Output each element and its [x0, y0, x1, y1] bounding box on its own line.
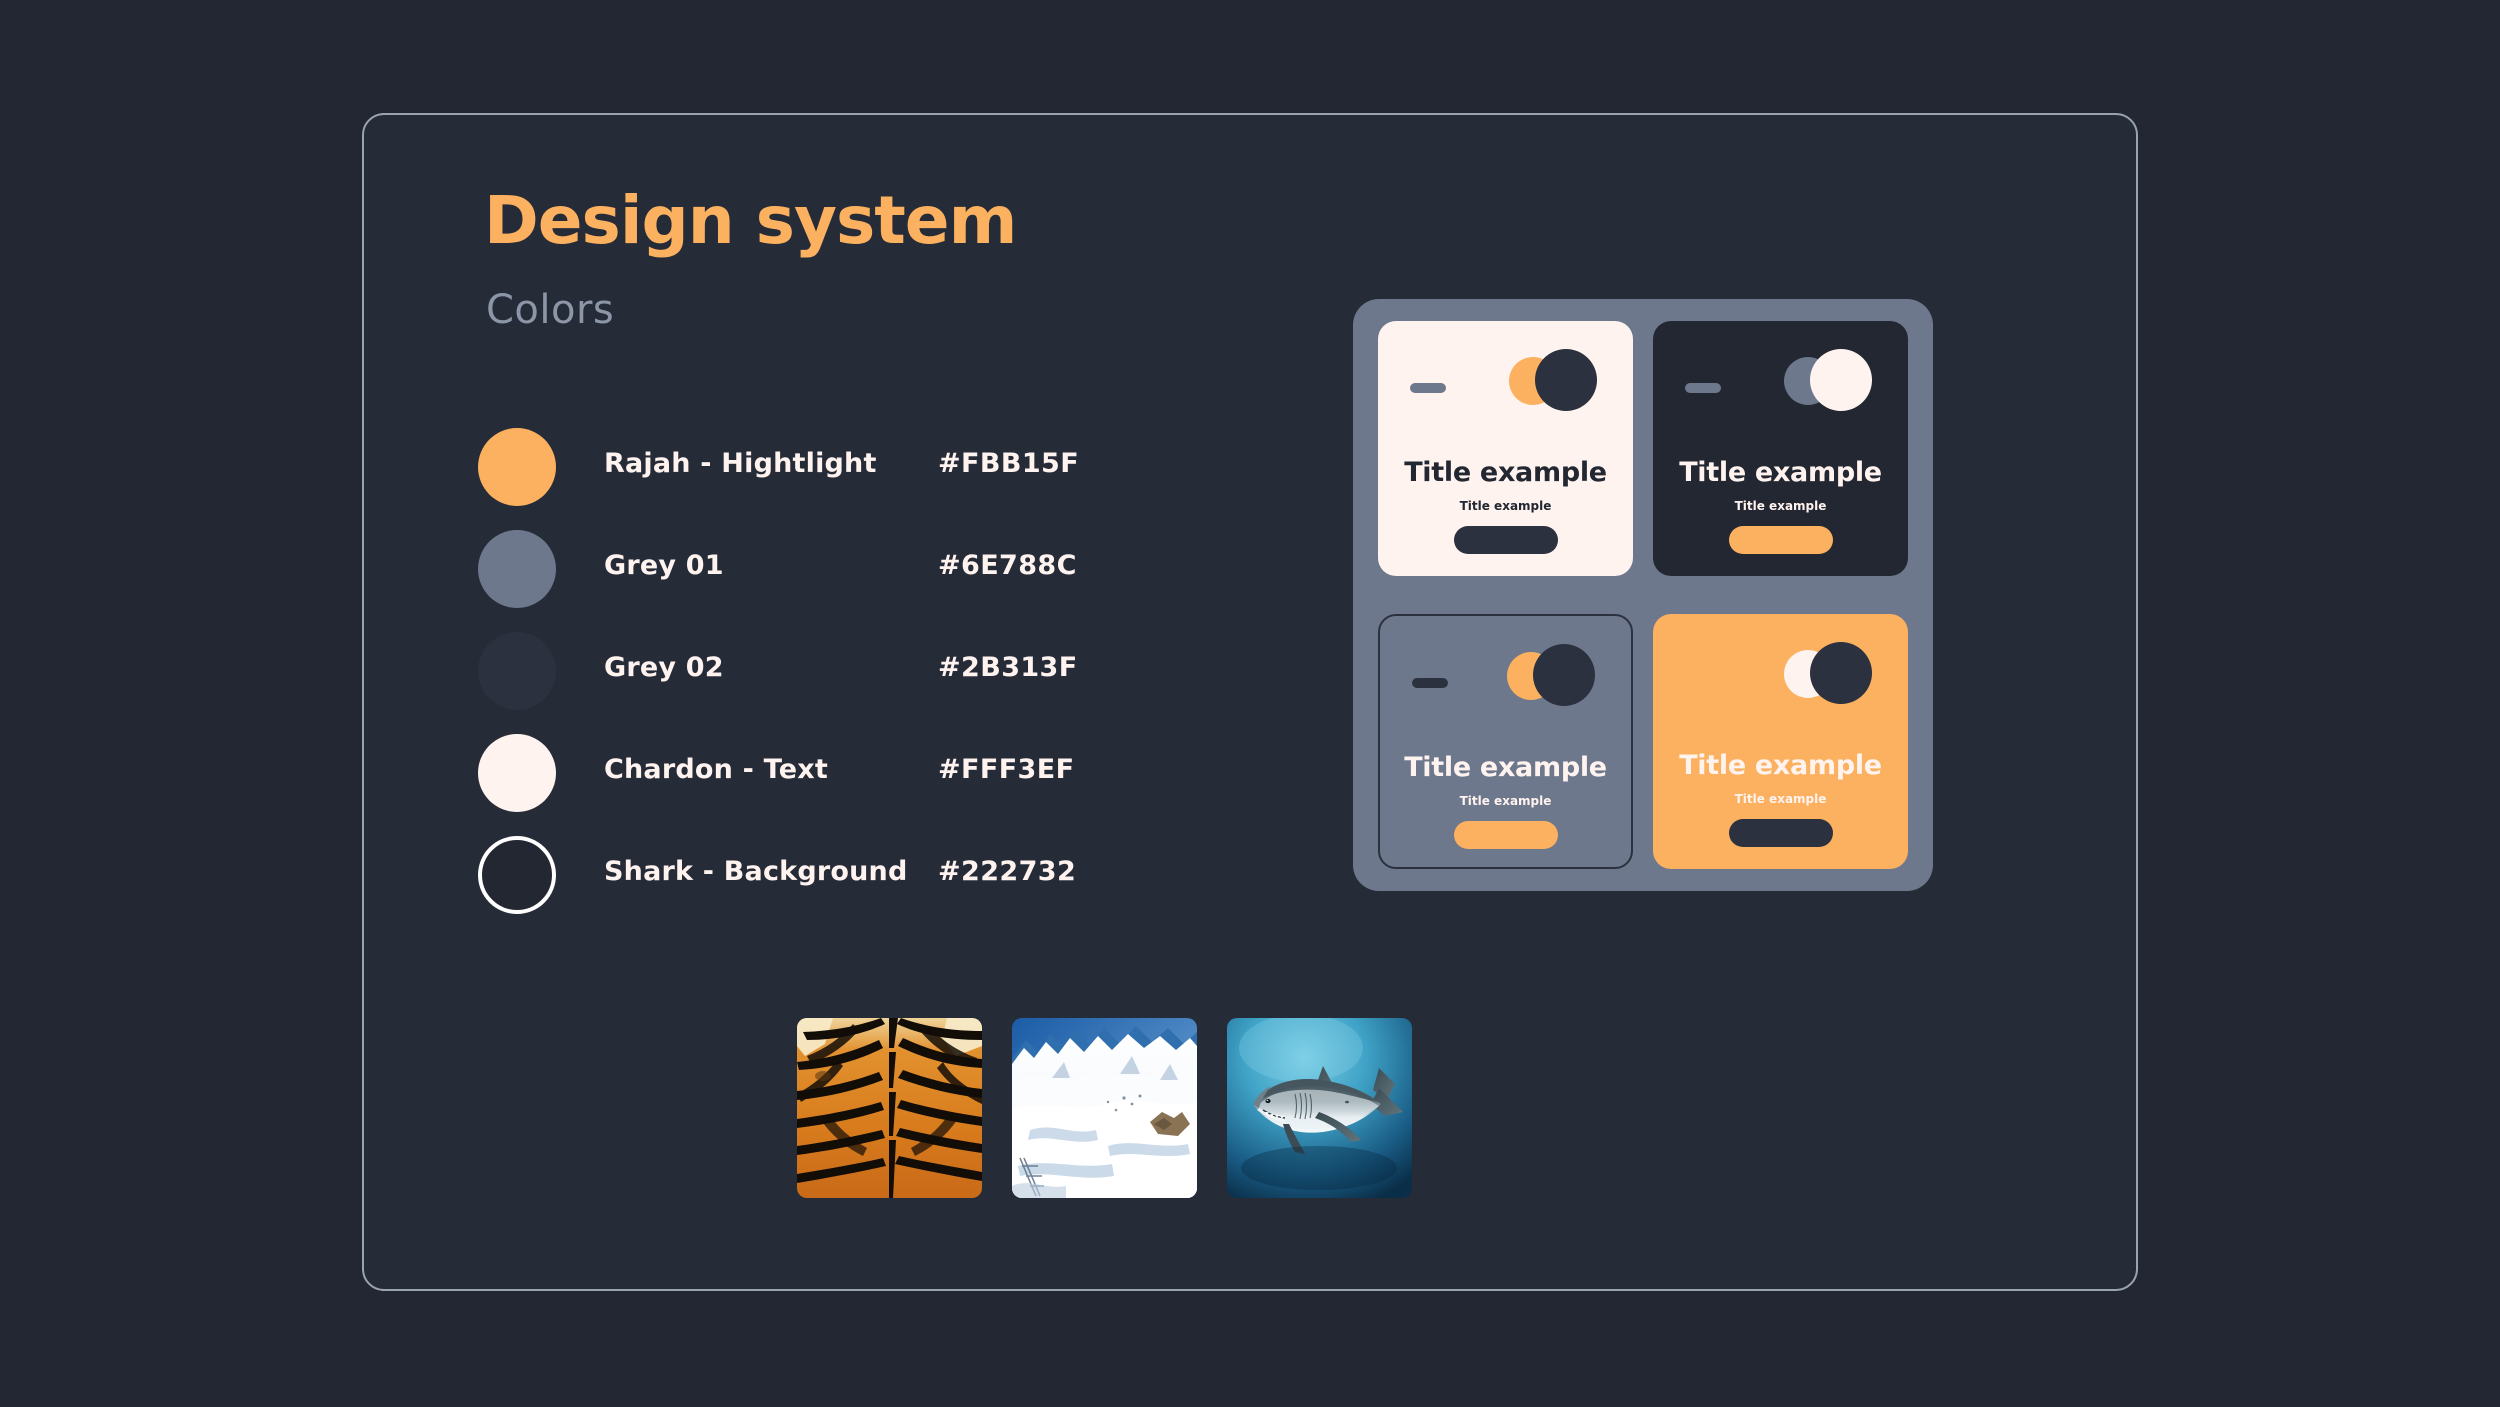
minus-dash-icon: [1410, 383, 1446, 393]
color-token-row: Grey 02#2B313F: [478, 624, 1198, 726]
color-token-row: Grey 01#6E788C: [478, 522, 1198, 624]
decorative-circle-front: [1810, 642, 1872, 704]
minus-dash-icon: [1412, 678, 1448, 688]
card-examples-panel: Title exampleTitle exampleTitle exampleT…: [1353, 299, 1933, 891]
snow-mountain-illustration: [1012, 1018, 1197, 1198]
card-action-button[interactable]: [1729, 819, 1833, 847]
decorative-circle-front: [1810, 349, 1872, 411]
page-subtitle: Colors: [486, 287, 614, 333]
card-title: Title example: [1653, 750, 1908, 781]
color-swatch[interactable]: [478, 632, 556, 710]
tiger-fur-illustration: [797, 1018, 982, 1198]
tiger-fur-thumbnail[interactable]: [797, 1018, 982, 1198]
color-swatch[interactable]: [478, 428, 556, 506]
minus-dash-icon: [1685, 383, 1721, 393]
card-title: Title example: [1653, 457, 1908, 488]
color-token-name: Grey 01: [604, 550, 724, 581]
color-swatch[interactable]: [478, 734, 556, 812]
card-subtitle: Title example: [1378, 499, 1633, 513]
color-token-name: Rajah - Hightlight: [604, 448, 877, 479]
color-token-row: Chardon - Text#FFF3EF: [478, 726, 1198, 828]
shark-thumbnail[interactable]: [1227, 1018, 1412, 1198]
color-token-row: Shark - Background#222732: [478, 828, 1198, 930]
page-title: Design system: [484, 182, 1016, 259]
decorative-circle-front: [1533, 644, 1595, 706]
color-swatch[interactable]: [478, 836, 556, 914]
color-token-hex: #FBB15F: [938, 448, 1079, 479]
card-action-button[interactable]: [1454, 821, 1558, 849]
color-token-name: Shark - Background: [604, 856, 908, 887]
color-swatch[interactable]: [478, 530, 556, 608]
example-card-grey-outline[interactable]: Title exampleTitle example: [1378, 614, 1633, 869]
color-token-hex: #222732: [938, 856, 1076, 887]
card-subtitle: Title example: [1653, 499, 1908, 513]
decorative-circle-front: [1535, 349, 1597, 411]
card-title: Title example: [1380, 752, 1631, 783]
card-action-button[interactable]: [1454, 526, 1558, 554]
color-token-hex: #6E788C: [938, 550, 1077, 581]
color-token-hex: #2B313F: [938, 652, 1078, 683]
example-card-light[interactable]: Title exampleTitle example: [1378, 321, 1633, 576]
snow-mountain-thumbnail[interactable]: [1012, 1018, 1197, 1198]
minus-dash-icon: [1685, 676, 1721, 686]
image-thumbnail-row: [797, 1018, 1412, 1198]
color-token-list: Rajah - Hightlight#FBB15FGrey 01#6E788CG…: [478, 420, 1198, 930]
color-token-row: Rajah - Hightlight#FBB15F: [478, 420, 1198, 522]
card-title: Title example: [1378, 457, 1633, 488]
example-card-dark[interactable]: Title exampleTitle example: [1653, 321, 1908, 576]
shark-illustration: [1227, 1018, 1412, 1198]
card-subtitle: Title example: [1653, 792, 1908, 806]
color-token-hex: #FFF3EF: [938, 754, 1074, 785]
card-subtitle: Title example: [1380, 794, 1631, 808]
color-token-name: Grey 02: [604, 652, 724, 683]
card-action-button[interactable]: [1729, 526, 1833, 554]
color-token-name: Chardon - Text: [604, 754, 828, 785]
example-card-highlight[interactable]: Title exampleTitle example: [1653, 614, 1908, 869]
